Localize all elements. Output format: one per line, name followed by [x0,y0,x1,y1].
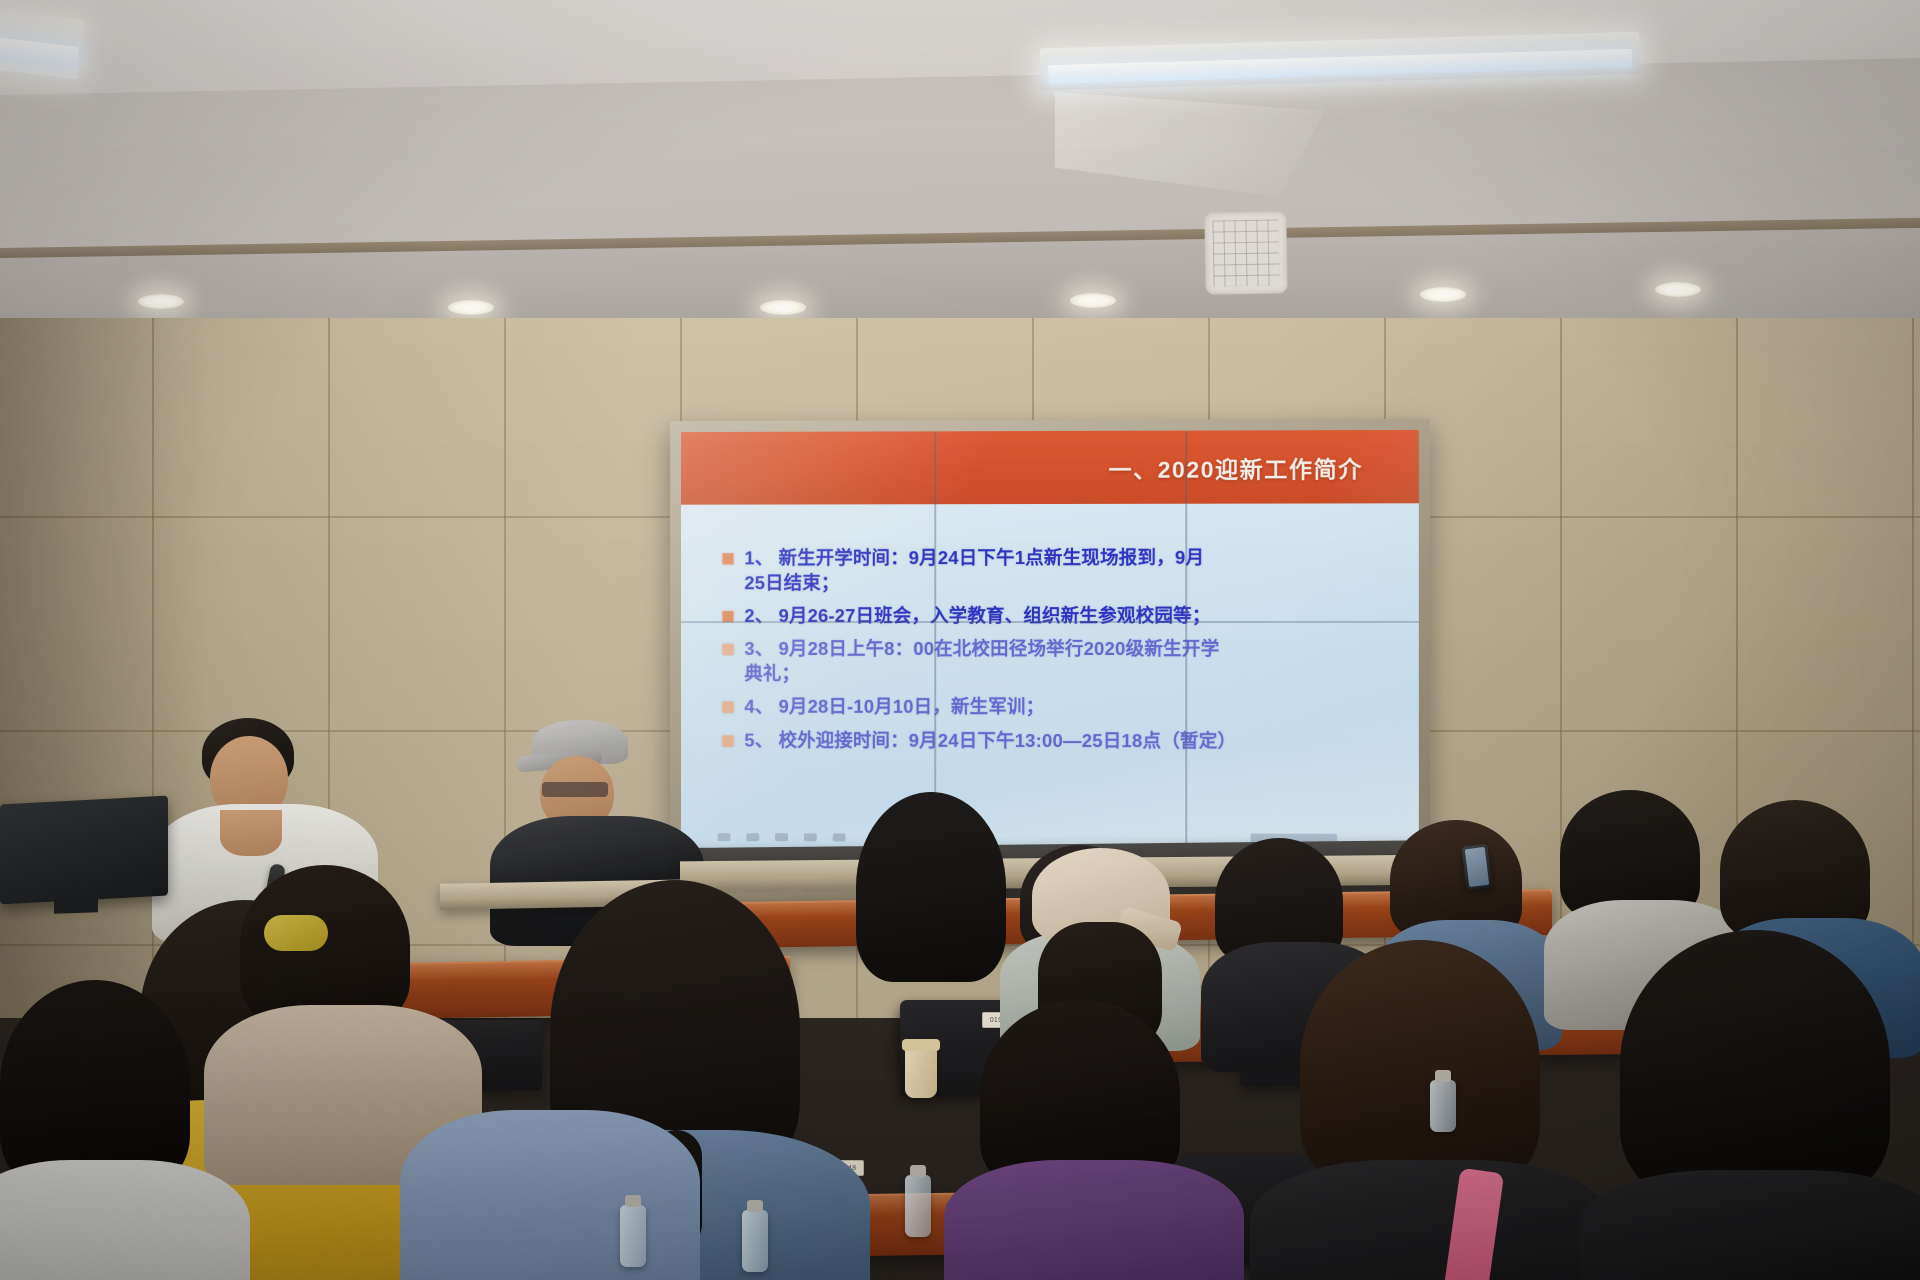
slide-bullet: 3、 9月28日上午8：00在北校田径场举行2020级新生开学 典礼； [723,637,1393,686]
tube-glass [0,36,79,67]
water-bottle[interactable] [742,1210,768,1272]
toolbar-zoom-icon[interactable] [833,834,846,842]
slide-title: 一、2020迎新工作简介 [1109,450,1363,485]
slide-bullet: 5、 校外迎接时间：9月24日下午13:00—25日18点（暂定） [723,728,1393,753]
smartphone-icon[interactable] [1461,844,1492,891]
water-bottle[interactable] [620,1205,646,1267]
projection-screen-frame: 一、2020迎新工作简介 1、 新生开学时间：9月24日下午1点新生现场报到，9… [670,419,1430,861]
ceiling [0,0,1920,330]
hair-scrunchie [264,915,328,951]
audience-torso [1580,1170,1920,1280]
fluorescent-tube-left-icon [0,9,85,80]
audience-torso-purple [944,1160,1244,1280]
projection-screen[interactable]: 一、2020迎新工作简介 1、 新生开学时间：9月24日下午1点新生现场报到，9… [681,430,1419,850]
lecture-hall-photo: 一、2020迎新工作简介 1、 新生开学时间：9月24日下午1点新生现场报到，9… [0,0,1920,1280]
audience-hair [1620,930,1890,1200]
downlight-icon [1070,293,1116,308]
toolbar-prev-icon[interactable] [717,833,730,841]
slide-bullet-text: 3、 9月28日上午8：00在北校田径场举行2020级新生开学 典礼； [744,637,1219,686]
slide-body: 1、 新生开学时间：9月24日下午1点新生现场报到，9月 25日结束； 2、 9… [681,503,1419,850]
eyeglasses-icon [542,782,608,797]
toolbar-next-icon[interactable] [775,834,788,842]
bullet-square-icon [723,644,734,655]
drink-cup[interactable] [905,1048,937,1098]
downlight-icon [1420,287,1466,302]
water-bottle[interactable] [905,1175,931,1237]
audience-member-foreground [0,980,230,1280]
slide-bullet: 4、 9月28日-10月10日，新生军训； [723,695,1393,720]
bullet-square-icon [723,554,734,565]
presenter-neck [220,810,282,856]
slide-bullet-text: 2、 9月26-27日班会，入学教育、组织新生参观校园等； [744,604,1210,629]
audience-member [856,792,1016,992]
toolbar-menu-icon[interactable] [804,834,817,842]
downlight-icon [448,300,494,315]
bullet-square-icon [723,735,734,746]
videowall-seam-horizontal [681,621,1419,623]
grille-mesh [1212,219,1279,286]
water-bottle[interactable] [1430,1080,1456,1132]
monitor-stand [54,894,98,914]
audience-member-foreground [960,1000,1230,1280]
videowall-seam-vertical [934,431,936,848]
slide-bullet: 1、 新生开学时间：9月24日下午1点新生现场报到，9月 25日结束； [723,546,1393,595]
slide-bullet-text: 5、 校外迎接时间：9月24日下午13:00—25日18点（暂定） [744,728,1236,753]
downlight-icon [138,294,184,309]
audience-hair [240,865,410,1025]
slide-bullet-text: 4、 9月28日-10月10日，新生军训； [744,695,1044,720]
downlight-icon [1655,282,1701,297]
bullet-square-icon [723,702,734,713]
tube-glass [1048,49,1632,85]
ceiling-speaker-grille-icon [1204,211,1287,294]
audience-torso [0,1160,250,1280]
videowall-seam-vertical [1185,431,1187,850]
audience-hair [856,792,1006,982]
audience-member-foreground [1600,930,1920,1280]
ceiling-wedge [1055,92,1325,197]
slide-bullet-text: 1、 新生开学时间：9月24日下午1点新生现场报到，9月 25日结束； [744,546,1204,595]
audience-phone-holder [1400,820,1460,890]
denim-jacket [400,1110,700,1280]
audience-hair [0,980,190,1190]
downlight-icon [760,300,806,315]
toolbar-pen-icon[interactable] [746,833,759,841]
audience-torso [1250,1160,1610,1280]
slide-title-bar: 一、2020迎新工作简介 [681,430,1419,505]
slide-bullet: 2、 9月26-27日班会，入学教育、组织新生参观校园等； [723,604,1393,629]
audience-hair [1300,940,1540,1190]
computer-monitor [0,796,168,905]
phone-screen [1465,847,1489,887]
